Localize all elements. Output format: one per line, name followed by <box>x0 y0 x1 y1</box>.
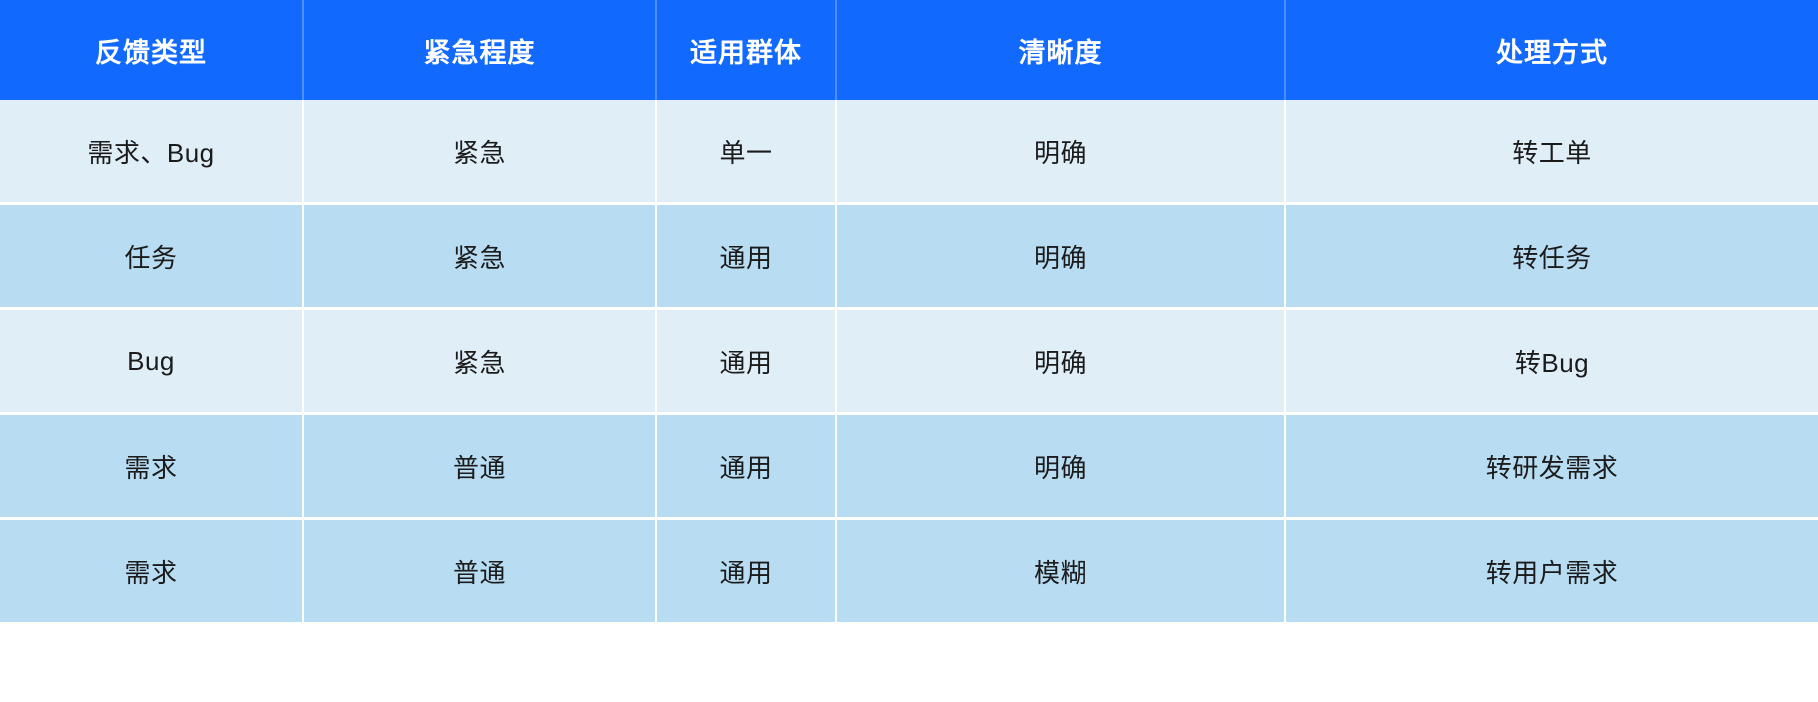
cell-handling: 转任务 <box>1285 204 1818 309</box>
table-header: 反馈类型 紧急程度 适用群体 清晰度 处理方式 <box>0 0 1818 100</box>
feedback-routing-table: 反馈类型 紧急程度 适用群体 清晰度 处理方式 需求、Bug 紧急 单一 明确 … <box>0 0 1818 622</box>
cell-audience: 单一 <box>656 100 836 204</box>
cell-feedback-type: 需求、Bug <box>0 100 303 204</box>
cell-audience: 通用 <box>656 309 836 414</box>
cell-clarity: 明确 <box>836 204 1285 309</box>
cell-urgency: 紧急 <box>303 204 656 309</box>
table-header-row: 反馈类型 紧急程度 适用群体 清晰度 处理方式 <box>0 0 1818 100</box>
cell-feedback-type: 需求 <box>0 519 303 623</box>
cell-urgency: 紧急 <box>303 100 656 204</box>
cell-urgency: 普通 <box>303 519 656 623</box>
feedback-routing-table-container: 反馈类型 紧急程度 适用群体 清晰度 处理方式 需求、Bug 紧急 单一 明确 … <box>0 0 1818 702</box>
cell-urgency: 紧急 <box>303 309 656 414</box>
column-header-audience: 适用群体 <box>656 0 836 100</box>
cell-clarity: 明确 <box>836 100 1285 204</box>
column-header-urgency: 紧急程度 <box>303 0 656 100</box>
cell-clarity: 模糊 <box>836 519 1285 623</box>
cell-handling: 转工单 <box>1285 100 1818 204</box>
table-row: Bug 紧急 通用 明确 转Bug <box>0 309 1818 414</box>
table-row: 需求 普通 通用 模糊 转用户需求 <box>0 519 1818 623</box>
cell-audience: 通用 <box>656 519 836 623</box>
column-header-clarity: 清晰度 <box>836 0 1285 100</box>
table-row: 需求、Bug 紧急 单一 明确 转工单 <box>0 100 1818 204</box>
cell-handling: 转Bug <box>1285 309 1818 414</box>
cell-audience: 通用 <box>656 414 836 519</box>
cell-handling: 转用户需求 <box>1285 519 1818 623</box>
cell-urgency: 普通 <box>303 414 656 519</box>
cell-feedback-type: 任务 <box>0 204 303 309</box>
cell-handling: 转研发需求 <box>1285 414 1818 519</box>
cell-audience: 通用 <box>656 204 836 309</box>
cell-feedback-type: 需求 <box>0 414 303 519</box>
table-body: 需求、Bug 紧急 单一 明确 转工单 任务 紧急 通用 明确 转任务 Bug … <box>0 100 1818 622</box>
cell-feedback-type: Bug <box>0 309 303 414</box>
cell-clarity: 明确 <box>836 414 1285 519</box>
table-row: 任务 紧急 通用 明确 转任务 <box>0 204 1818 309</box>
column-header-feedback-type: 反馈类型 <box>0 0 303 100</box>
table-row: 需求 普通 通用 明确 转研发需求 <box>0 414 1818 519</box>
cell-clarity: 明确 <box>836 309 1285 414</box>
column-header-handling: 处理方式 <box>1285 0 1818 100</box>
